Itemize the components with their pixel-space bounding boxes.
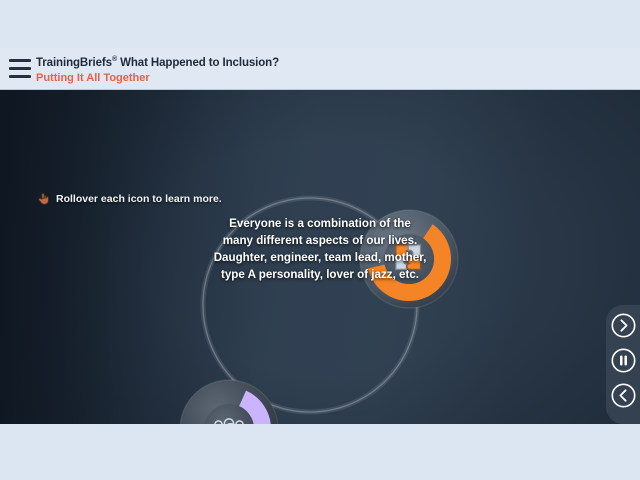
course-player: TrainingBriefs® What Happened to Inclusi… bbox=[0, 0, 640, 480]
title-block: TrainingBriefs® What Happened to Inclusi… bbox=[36, 53, 279, 85]
slide-body-text: Everyone is a combination of the many di… bbox=[150, 215, 490, 283]
body-line: Daughter, engineer, team lead, mother, bbox=[150, 249, 490, 266]
slide-canvas: Everyone is a combination of the many di… bbox=[0, 90, 640, 424]
menu-bar bbox=[9, 75, 31, 78]
player-header: TrainingBriefs® What Happened to Inclusi… bbox=[0, 48, 640, 90]
rollover-hint: Rollover each icon to learn more. bbox=[36, 191, 222, 206]
menu-bar bbox=[9, 59, 31, 62]
body-line: Everyone is a combination of the bbox=[150, 215, 490, 232]
pause-button[interactable] bbox=[610, 347, 637, 374]
letterbox-bottom bbox=[0, 424, 640, 480]
hamburger-menu-icon[interactable] bbox=[9, 59, 31, 78]
next-button[interactable] bbox=[610, 312, 637, 339]
body-line: type A personality, lover of jazz, etc. bbox=[150, 266, 490, 283]
player-controls bbox=[606, 305, 640, 424]
brand-name: TrainingBriefs bbox=[36, 57, 112, 69]
body-line: many different aspects of our lives. bbox=[150, 232, 490, 249]
course-name: What Happened to Inclusion? bbox=[117, 57, 279, 69]
previous-button[interactable] bbox=[610, 382, 637, 409]
hotspot-people-search[interactable] bbox=[178, 378, 280, 424]
page-subtitle: Putting It All Together bbox=[36, 71, 279, 85]
hand-cursor-icon bbox=[36, 191, 51, 206]
letterbox-top bbox=[0, 0, 640, 48]
page-title: TrainingBriefs® What Happened to Inclusi… bbox=[36, 53, 279, 70]
rollover-hint-text: Rollover each icon to learn more. bbox=[56, 193, 222, 205]
menu-bar bbox=[9, 67, 31, 70]
